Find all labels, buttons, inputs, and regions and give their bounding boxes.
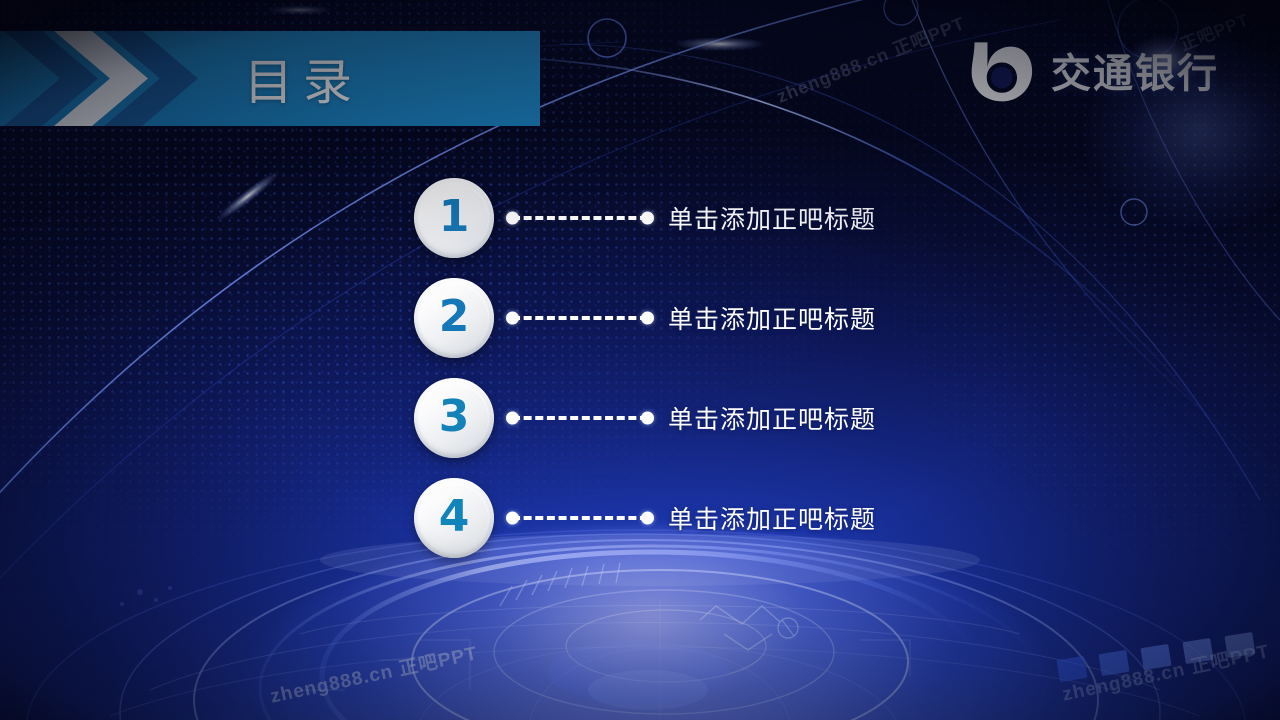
- brand-logo: 交通银行: [963, 38, 1219, 110]
- brand-name: 交通银行: [1051, 54, 1219, 94]
- connector-dot-end: [641, 412, 654, 425]
- title-banner: [0, 31, 540, 126]
- connector-dashed-line: [512, 416, 648, 420]
- toc-number-4: 4: [439, 495, 470, 539]
- toc-connector-3: [506, 411, 654, 425]
- table-of-contents: 1 单击添加正吧标题 2 单击添加正吧标题 3: [414, 178, 876, 578]
- chevron-arrows-icon: [0, 31, 540, 126]
- toc-item-4[interactable]: 4 单击添加正吧标题: [414, 478, 876, 558]
- toc-label-3[interactable]: 单击添加正吧标题: [668, 400, 876, 436]
- connector-dot-end: [641, 212, 654, 225]
- toc-item-1[interactable]: 1 单击添加正吧标题: [414, 178, 876, 258]
- connector-dot-end: [641, 312, 654, 325]
- presentation-slide: 目录 交通银行 1 单击添加正吧标题 2: [0, 0, 1280, 720]
- toc-connector-4: [506, 511, 654, 525]
- connector-dashed-line: [512, 216, 648, 220]
- toc-number-3: 3: [439, 395, 470, 439]
- toc-label-2[interactable]: 单击添加正吧标题: [668, 300, 876, 336]
- toc-item-3[interactable]: 3 单击添加正吧标题: [414, 378, 876, 458]
- toc-number-2: 2: [439, 295, 470, 339]
- toc-connector-2: [506, 311, 654, 325]
- toc-number-badge-1[interactable]: 1: [414, 178, 494, 258]
- toc-label-4[interactable]: 单击添加正吧标题: [668, 500, 876, 536]
- toc-number-badge-3[interactable]: 3: [414, 378, 494, 458]
- connector-dot-end: [641, 512, 654, 525]
- bank-of-communications-logo-icon: [963, 38, 1035, 110]
- toc-number-1: 1: [439, 195, 470, 239]
- toc-number-badge-2[interactable]: 2: [414, 278, 494, 358]
- toc-connector-1: [506, 211, 654, 225]
- toc-item-2[interactable]: 2 单击添加正吧标题: [414, 278, 876, 358]
- toc-label-1[interactable]: 单击添加正吧标题: [668, 200, 876, 236]
- connector-dashed-line: [512, 316, 648, 320]
- connector-dashed-line: [512, 516, 648, 520]
- toc-number-badge-4[interactable]: 4: [414, 478, 494, 558]
